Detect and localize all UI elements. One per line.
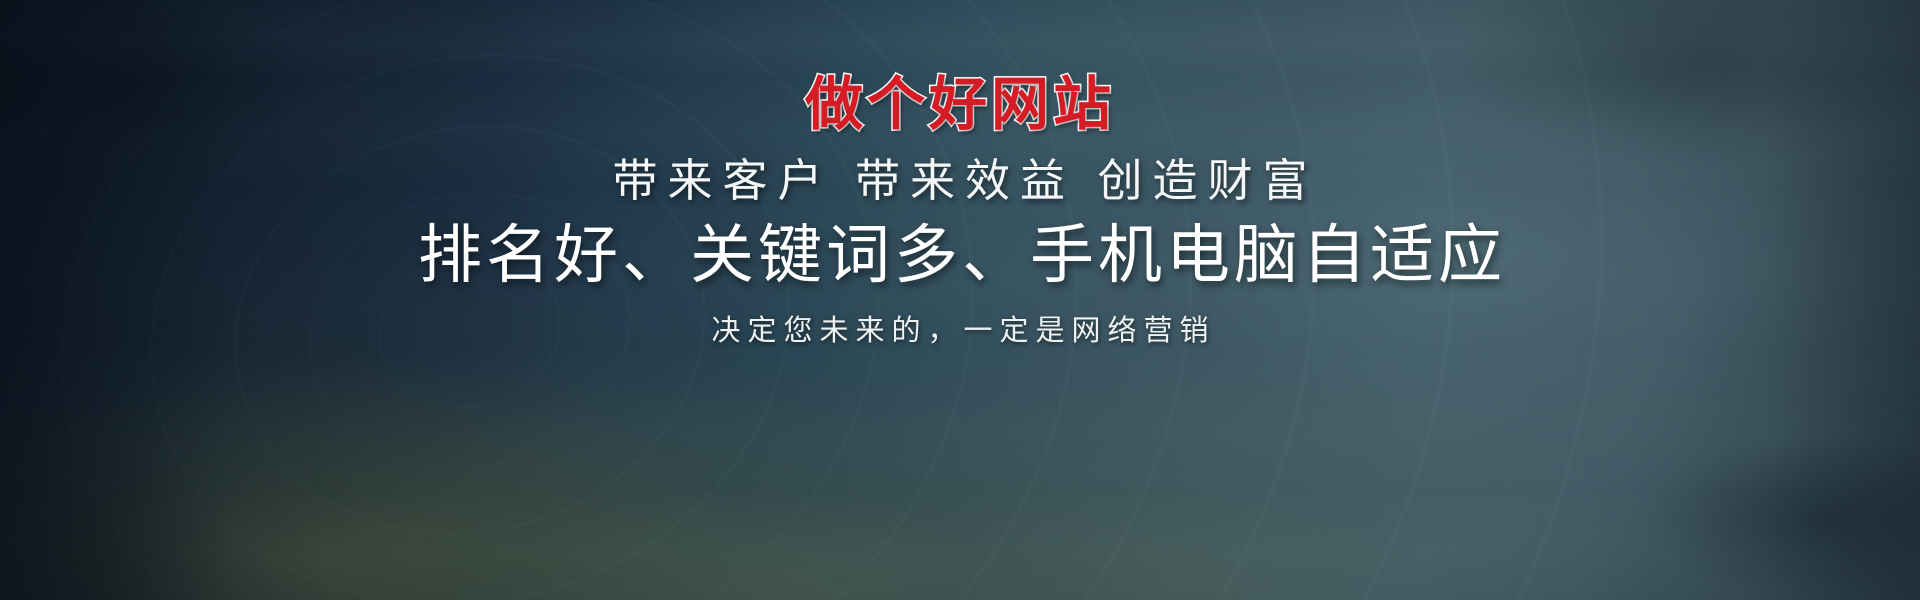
banner-copy-stack: 做个好网站 带来客户 带来效益 创造财富 排名好、关键词多、手机电脑自适应 决定… <box>0 0 1920 600</box>
banner-main-statement: 排名好、关键词多、手机电脑自适应 <box>414 223 1506 287</box>
hero-banner: 做个好网站 带来客户 带来效益 创造财富 排名好、关键词多、手机电脑自适应 决定… <box>0 0 1920 600</box>
banner-tagline: 决定您未来的，一定是网络营销 <box>704 317 1215 346</box>
banner-headline: 做个好网站 <box>805 76 1115 134</box>
banner-subheadline: 带来客户 带来效益 创造财富 <box>602 158 1317 203</box>
